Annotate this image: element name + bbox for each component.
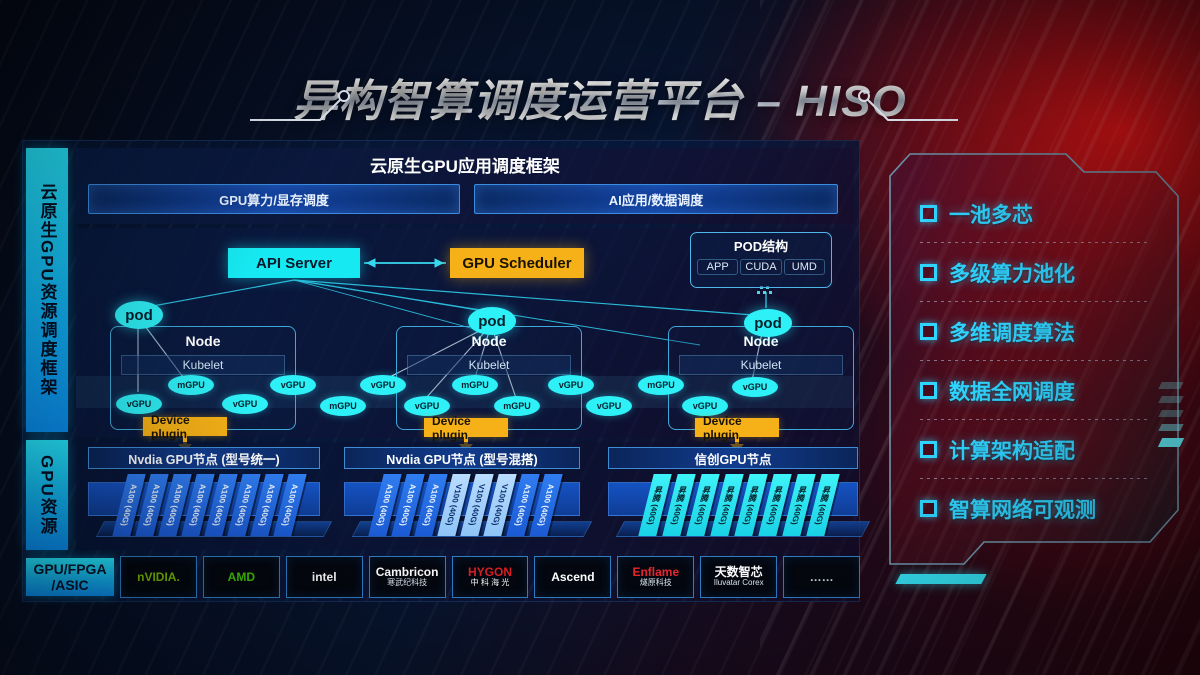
mgpu-chip[interactable]: mGPU (168, 375, 214, 395)
vendor-name: nVIDIA. (137, 571, 180, 583)
vendor-name: intel (312, 571, 337, 583)
nvidia-logo[interactable]: nVIDIA. (120, 556, 197, 598)
enflame-logo[interactable]: Enflame燧原科技 (617, 556, 694, 598)
vendor-subname: 燧原科技 (632, 578, 679, 588)
feature-item-label: 一池多芯 (949, 199, 1033, 229)
gpu-group-title: 信创GPU节点 (608, 447, 858, 469)
vendor-name: Ascend (551, 571, 594, 583)
vendor-name: …… (810, 571, 834, 583)
framework-button-compute[interactable]: GPU算力/显存调度 (88, 184, 460, 214)
vendor-subname: 寒武纪科技 (376, 578, 439, 588)
vgpu-chip[interactable]: vGPU (586, 396, 632, 416)
pod-cell-umd: UMD (784, 259, 825, 275)
vendor-name: 天数智芯 (714, 566, 764, 578)
panel-footer-accent (895, 574, 986, 584)
vgpu-chip[interactable]: vGPU (732, 377, 778, 397)
iluvatar-logo[interactable]: 天数智芯Iluvatar Corex (700, 556, 777, 598)
kubelet-box: Kubelet (121, 355, 285, 375)
vgpu-chip[interactable]: vGPU (360, 375, 406, 395)
sidebar-tab-framework[interactable]: 云原生GPU资源调度框架 (26, 148, 68, 432)
checkbox-icon (920, 205, 937, 222)
sidebar-tab-asic[interactable]: GPU/FPGA /ASIC (26, 558, 114, 596)
vendor-logo-strip: nVIDIA.AMDintelCambricon寒武纪科技HYGON中 科 海 … (120, 556, 860, 598)
feature-item-label: 计算架构适配 (949, 435, 1075, 465)
checkbox-icon (920, 441, 937, 458)
mgpu-chip[interactable]: mGPU (638, 375, 684, 395)
kubelet-box: Kubelet (679, 355, 843, 375)
pod-cell-cuda: CUDA (740, 259, 781, 275)
feature-item[interactable]: 智算网络可观测 (920, 479, 1170, 538)
title-left-decoration (248, 62, 358, 132)
gpu-scheduler-box[interactable]: GPU Scheduler (450, 248, 584, 278)
pod-ellipse[interactable]: pod (468, 307, 516, 335)
checkbox-icon (920, 264, 937, 281)
node-title: Node (111, 333, 295, 349)
feature-item[interactable]: 多维调度算法 (920, 302, 1170, 361)
ascend-logo[interactable]: Ascend (534, 556, 611, 598)
feature-item-label: 智算网络可观测 (949, 494, 1096, 524)
pod-structure-box: POD结构 APP CUDA UMD (690, 232, 832, 288)
framework-button-ai[interactable]: AI应用/数据调度 (474, 184, 838, 214)
cambricon-logo[interactable]: Cambricon寒武纪科技 (369, 556, 446, 598)
feature-item-label: 多维调度算法 (949, 317, 1075, 347)
vgpu-chip[interactable]: vGPU (222, 394, 268, 414)
vgpu-chip[interactable]: vGPU (270, 375, 316, 395)
device-plugin-badge[interactable]: Device plugin (424, 418, 508, 437)
feature-item[interactable]: 多级算力池化 (920, 243, 1170, 302)
vendor-name: Cambricon (376, 566, 439, 578)
gpu-group-title: Nvdia GPU节点 (型号混搭) (344, 447, 580, 469)
vendor-name: HYGON (468, 566, 512, 578)
more-logo[interactable]: …… (783, 556, 860, 598)
feature-item-label: 多级算力池化 (949, 258, 1075, 288)
intel-logo[interactable]: intel (286, 556, 363, 598)
pod-ellipse[interactable]: pod (115, 301, 163, 329)
framework-title: 云原生GPU应用调度框架 (76, 152, 854, 177)
checkbox-icon (920, 323, 937, 340)
device-plugin-badge[interactable]: Device plugin (143, 417, 227, 436)
feature-item[interactable]: 一池多芯 (920, 184, 1170, 243)
mgpu-chip[interactable]: mGPU (494, 396, 540, 416)
feature-item-label: 数据全网调度 (949, 376, 1075, 406)
title-bar: 异构智算调度运营平台 – HISO (0, 62, 1200, 132)
asic-label-line1: GPU/FPGA (33, 561, 106, 577)
feature-item[interactable]: 数据全网调度 (920, 361, 1170, 420)
hygon-logo[interactable]: HYGON中 科 海 光 (452, 556, 529, 598)
feature-panel: 一池多芯多级算力池化多维调度算法数据全网调度计算架构适配智算网络可观测 (888, 150, 1180, 568)
device-plugin-badge[interactable]: Device plugin (695, 418, 779, 437)
pod-ellipse[interactable]: pod (744, 309, 792, 337)
vgpu-chip[interactable]: vGPU (116, 394, 162, 414)
asic-label-line2: /ASIC (33, 577, 106, 593)
pod-structure-title: POD结构 (691, 236, 831, 255)
api-server-box[interactable]: API Server (228, 248, 360, 278)
feature-item[interactable]: 计算架构适配 (920, 420, 1170, 479)
vendor-name: AMD (228, 571, 255, 583)
pod-cell-app: APP (697, 259, 738, 275)
vendor-name: Enflame (632, 566, 679, 578)
page-title: 异构智算调度运营平台 – HISO (293, 65, 907, 129)
checkbox-icon (920, 500, 937, 517)
node-title: Node (397, 333, 581, 349)
sidebar-tab-gpu-resource[interactable]: GPU资源 (26, 440, 68, 550)
title-right-decoration (850, 62, 960, 132)
mgpu-chip[interactable]: mGPU (452, 375, 498, 395)
vendor-subname: Iluvatar Corex (714, 578, 764, 588)
mgpu-chip[interactable]: mGPU (320, 396, 366, 416)
feature-list: 一池多芯多级算力池化多维调度算法数据全网调度计算架构适配智算网络可观测 (920, 184, 1170, 540)
gpu-group-title: Nvdia GPU节点 (型号统一) (88, 447, 320, 469)
amd-logo[interactable]: AMD (203, 556, 280, 598)
checkbox-icon (920, 382, 937, 399)
vgpu-chip[interactable]: vGPU (548, 375, 594, 395)
slide-canvas: 异构智算调度运营平台 – HISO 云原生GPU资源调度框架 GPU资源 GPU… (0, 0, 1200, 675)
kubelet-box: Kubelet (407, 355, 571, 375)
vendor-subname: 中 科 海 光 (468, 578, 512, 588)
